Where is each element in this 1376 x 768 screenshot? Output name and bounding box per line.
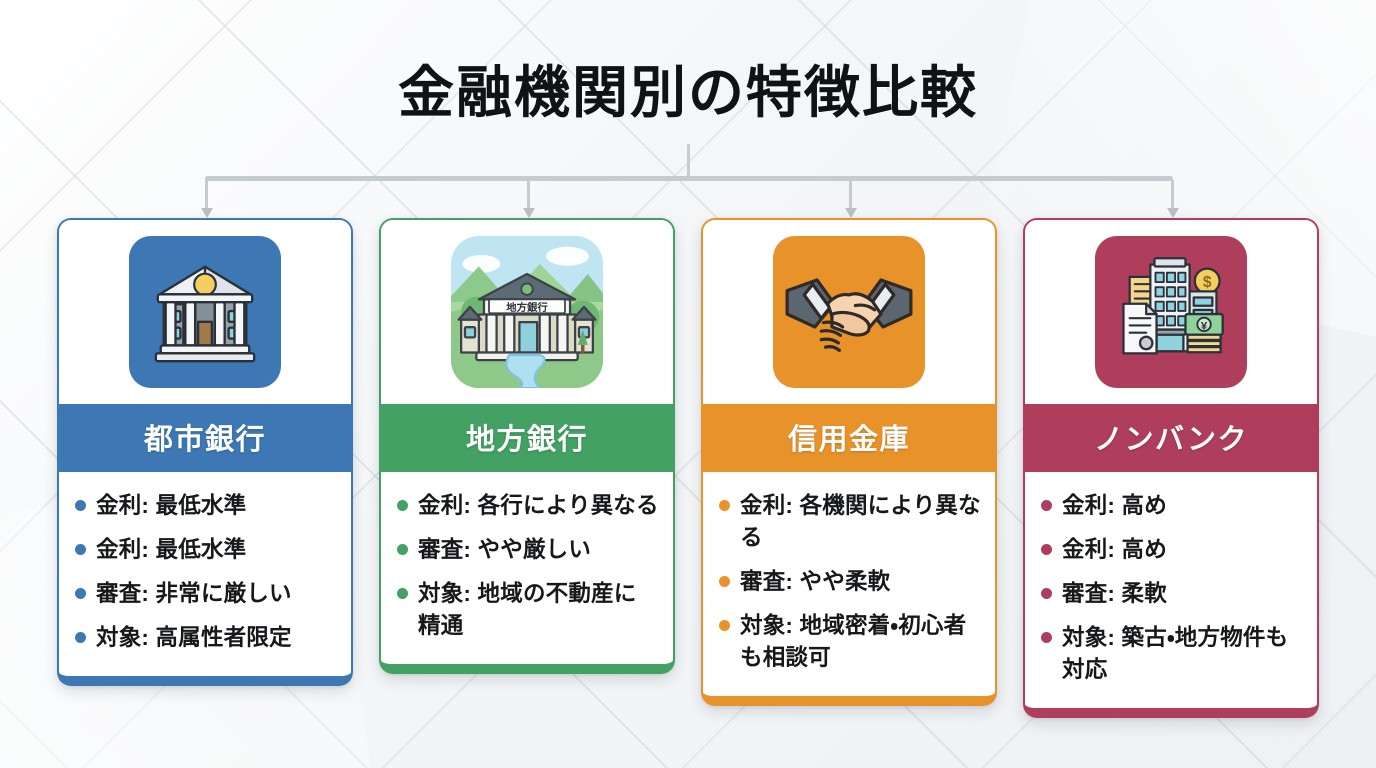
bullet-text: 審査: 非常に厳しい <box>96 578 292 610</box>
handshake-icon <box>773 236 925 388</box>
comparison-card-row: 都市銀行 金利: 最低水準 金利: 最低水準 審査: 非常に厳しい 対象: 高属… <box>57 218 1319 718</box>
connector-horizontal-bar <box>205 176 1173 181</box>
bullet-dot-icon <box>397 588 408 599</box>
bullet-text: 金利: 高め <box>1062 490 1167 522</box>
list-item: 金利: 高め <box>1041 534 1303 566</box>
card-icon-area <box>59 220 351 404</box>
bullet-text: 対象: 築古・地方物件も対応 <box>1062 622 1303 686</box>
list-item: 審査: やや柔軟 <box>719 566 981 598</box>
bullet-text: 審査: やや柔軟 <box>740 566 890 598</box>
card-title: 都市銀行 <box>59 404 351 472</box>
card-bullet-list: 金利: 高め 金利: 高め 審査: 柔軟 対象: 築古・地方物件も対応 <box>1025 472 1317 708</box>
bullet-text: 対象: 高属性者限定 <box>96 622 292 654</box>
connector-arrow-3 <box>849 180 852 210</box>
bullet-dot-icon <box>719 500 730 511</box>
bullet-dot-icon <box>397 544 408 555</box>
list-item: 対象: 築古・地方物件も対応 <box>1041 622 1303 686</box>
card-regional-bank[interactable]: 地方銀行 地方銀行 金利: 各行により異なる <box>379 218 675 674</box>
list-item: 審査: 非常に厳しい <box>75 578 337 610</box>
card-bullet-list: 金利: 各機関により異なる 審査: やや柔軟 対象: 地域密着・初心者も相談可 <box>703 472 995 696</box>
regional-bank-landscape-icon: 地方銀行 <box>451 236 603 388</box>
bullet-dot-icon <box>75 500 86 511</box>
bullet-text: 審査: やや厳しい <box>418 534 591 566</box>
bullet-text: 審査: 柔軟 <box>1062 578 1167 610</box>
list-item: 審査: やや厳しい <box>397 534 659 566</box>
bullet-text: 対象: 地域密着・初心者も相談可 <box>740 610 981 674</box>
card-icon-area: 地方銀行 <box>381 220 673 404</box>
svg-text:$: $ <box>1203 274 1212 291</box>
card-shinkin-bank[interactable]: 信用金庫 金利: 各機関により異なる 審査: やや柔軟 対象: 地域密着・初心者… <box>701 218 997 706</box>
bullet-text: 金利: 最低水準 <box>96 490 246 522</box>
classical-bank-building-icon <box>129 236 281 388</box>
list-item: 金利: 各機関により異なる <box>719 490 981 554</box>
bullet-text: 金利: 高め <box>1062 534 1167 566</box>
bullet-dot-icon <box>397 500 408 511</box>
bullet-dot-icon <box>75 588 86 599</box>
slide-canvas: 金融機関別の特徴比較 <box>0 0 1376 768</box>
card-icon-area: $ <box>1025 220 1317 404</box>
card-title: 地方銀行 <box>381 404 673 472</box>
bullet-dot-icon <box>1041 500 1052 511</box>
list-item: 金利: 最低水準 <box>75 490 337 522</box>
list-item: 対象: 地域密着・初心者も相談可 <box>719 610 981 674</box>
list-item: 対象: 地域の不動産に精通 <box>397 578 659 642</box>
connector-arrow-4 <box>1171 180 1174 210</box>
card-title: 信用金庫 <box>703 404 995 472</box>
bullet-text: 対象: 地域の不動産に精通 <box>418 578 659 642</box>
bullet-dot-icon <box>1041 588 1052 599</box>
icon-sign-label: 地方銀行 <box>506 301 548 314</box>
connector-stem <box>687 144 690 178</box>
card-bullet-list: 金利: 各行により異なる 審査: やや厳しい 対象: 地域の不動産に精通 <box>381 472 673 664</box>
bullet-dot-icon <box>719 576 730 587</box>
list-item: 対象: 高属性者限定 <box>75 622 337 654</box>
bullet-dot-icon <box>719 620 730 631</box>
card-icon-area <box>703 220 995 404</box>
bullet-dot-icon <box>1041 544 1052 555</box>
page-title: 金融機関別の特徴比較 <box>0 48 1376 129</box>
card-title: ノンバンク <box>1025 404 1317 472</box>
bullet-dot-icon <box>75 544 86 555</box>
svg-text:¥: ¥ <box>1201 321 1208 333</box>
list-item: 金利: 最低水準 <box>75 534 337 566</box>
bullet-dot-icon <box>75 632 86 643</box>
card-city-bank[interactable]: 都市銀行 金利: 最低水準 金利: 最低水準 審査: 非常に厳しい 対象: 高属… <box>57 218 353 686</box>
bullet-dot-icon <box>1041 632 1052 643</box>
list-item: 金利: 各行により異なる <box>397 490 659 522</box>
office-building-money-documents-icon: $ <box>1095 236 1247 388</box>
connector-arrow-1 <box>205 180 208 210</box>
card-nonbank[interactable]: $ <box>1023 218 1319 718</box>
bullet-text: 金利: 各行により異なる <box>418 490 659 522</box>
list-item: 金利: 高め <box>1041 490 1303 522</box>
list-item: 審査: 柔軟 <box>1041 578 1303 610</box>
connector-arrow-2 <box>527 180 530 210</box>
bullet-text: 金利: 各機関により異なる <box>740 490 981 554</box>
card-bullet-list: 金利: 最低水準 金利: 最低水準 審査: 非常に厳しい 対象: 高属性者限定 <box>59 472 351 676</box>
bullet-text: 金利: 最低水準 <box>96 534 246 566</box>
